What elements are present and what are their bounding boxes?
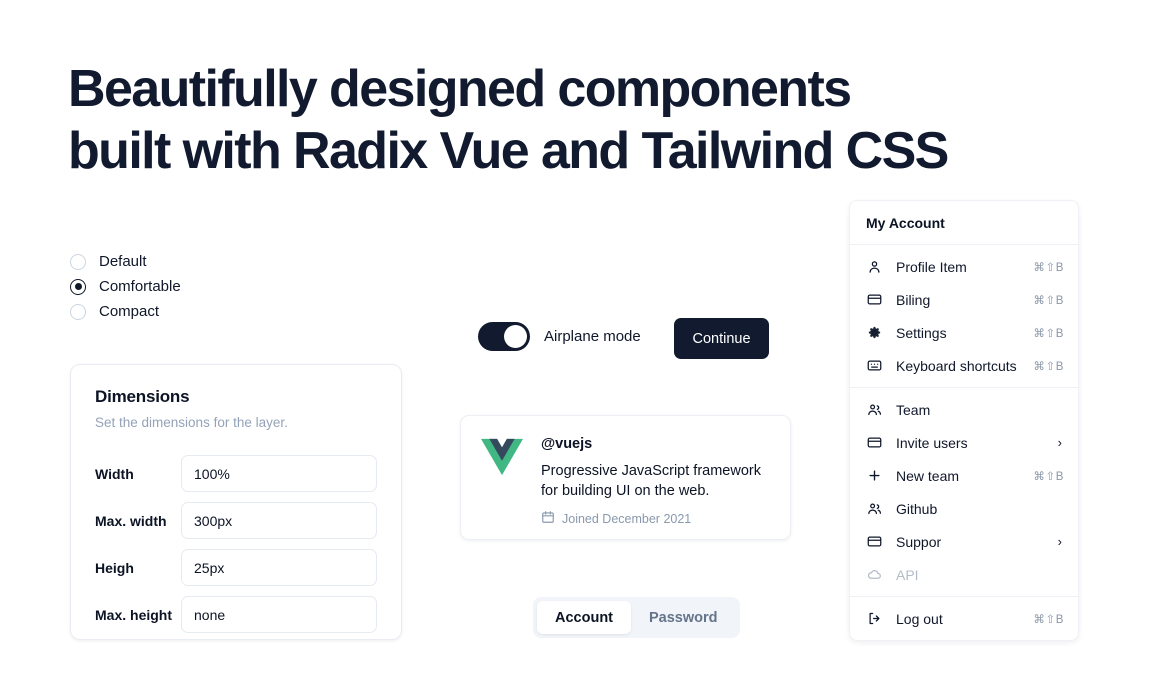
radio-label-default: Default	[99, 253, 147, 270]
continue-button[interactable]: Continue	[674, 318, 769, 359]
menu-item-team-label: Team	[896, 402, 1064, 418]
chevron-right-icon: ›	[1058, 436, 1062, 449]
radio-label-comfortable: Comfortable	[99, 278, 181, 295]
vue-joined-text: Joined December 2021	[562, 512, 691, 526]
radio-label-compact: Compact	[99, 303, 159, 320]
dimensions-subtitle: Set the dimensions for the layer.	[95, 415, 377, 430]
page-title: Beautifully designed components built wi…	[68, 58, 1028, 182]
menu-item-keyboard-shortcuts[interactable]: Keyboard shortcuts ⌘⇧B	[850, 349, 1078, 382]
menu-item-settings-label: Settings	[896, 325, 1033, 341]
menu-item-api: API	[850, 558, 1078, 591]
tab-password[interactable]: Password	[631, 601, 736, 634]
dimensions-row-max-height: Max. height	[95, 591, 377, 638]
keyboard-icon	[866, 357, 883, 374]
menu-item-logout-shortcut: ⌘⇧B	[1033, 612, 1064, 626]
switch-knob	[504, 325, 527, 348]
dimensions-field-list: Width Max. width Heigh Max. height	[95, 450, 377, 638]
tab-account[interactable]: Account	[537, 601, 631, 634]
menu-item-new-team-label: New team	[896, 468, 1033, 484]
menu-item-team[interactable]: Team	[850, 393, 1078, 426]
plus-icon	[866, 467, 883, 484]
input-max-width[interactable]	[181, 502, 377, 539]
menu-item-github[interactable]: Github	[850, 492, 1078, 525]
label-width: Width	[95, 466, 181, 482]
gear-icon	[866, 324, 883, 341]
dimensions-row-width: Width	[95, 450, 377, 497]
density-radio-group: Default Comfortable Compact	[70, 249, 181, 324]
vue-hover-card-body: @vuejs Progressive JavaScript framework …	[541, 436, 781, 539]
menu-group-team: Team Invite users › New team ⌘⇧B	[850, 388, 1078, 596]
airplane-mode-row: Airplane mode	[478, 322, 641, 351]
menu-item-profile[interactable]: Profile Item ⌘⇧B	[850, 250, 1078, 283]
logout-icon	[866, 610, 883, 627]
menu-item-github-label: Github	[896, 501, 1064, 517]
credit-card-icon	[866, 434, 883, 451]
vue-description: Progressive JavaScript framework for bui…	[541, 461, 781, 501]
label-max-height: Max. height	[95, 607, 181, 623]
vue-handle: @vuejs	[541, 436, 781, 452]
menu-item-billing[interactable]: Biling ⌘⇧B	[850, 283, 1078, 316]
radio-option-comfortable[interactable]: Comfortable	[70, 274, 181, 299]
dimensions-row-max-width: Max. width	[95, 497, 377, 544]
menu-item-invite-users-label: Invite users	[896, 435, 1058, 451]
dimensions-title: Dimensions	[95, 387, 377, 407]
calendar-icon	[541, 510, 562, 527]
menu-item-billing-label: Biling	[896, 292, 1033, 308]
airplane-mode-label: Airplane mode	[544, 328, 641, 345]
menu-item-keyboard-shortcuts-shortcut: ⌘⇧B	[1033, 359, 1064, 373]
input-height[interactable]	[181, 549, 377, 586]
dimensions-row-height: Heigh	[95, 544, 377, 591]
menu-item-settings[interactable]: Settings ⌘⇧B	[850, 316, 1078, 349]
menu-group-account: Profile Item ⌘⇧B Biling ⌘⇧B Settings ⌘⇧B	[850, 245, 1078, 387]
page-title-line-2: built with Radix Vue and Tailwind CSS	[68, 120, 1028, 182]
airplane-mode-switch[interactable]	[478, 322, 530, 351]
menu-item-profile-shortcut: ⌘⇧B	[1033, 260, 1064, 274]
menu-item-keyboard-shortcuts-label: Keyboard shortcuts	[896, 358, 1033, 374]
label-max-width: Max. width	[95, 513, 181, 529]
cloud-icon	[866, 566, 883, 583]
menu-item-profile-label: Profile Item	[896, 259, 1033, 275]
menu-item-api-label: API	[896, 567, 1064, 583]
vue-joined-row: Joined December 2021	[541, 510, 781, 527]
radio-icon-comfortable[interactable]	[70, 279, 86, 295]
account-dropdown-menu: My Account Profile Item ⌘⇧B Biling ⌘⇧B	[849, 200, 1079, 641]
credit-card-icon	[866, 291, 883, 308]
dimensions-card: Dimensions Set the dimensions for the la…	[70, 364, 402, 640]
menu-item-new-team[interactable]: New team ⌘⇧B	[850, 459, 1078, 492]
menu-item-new-team-shortcut: ⌘⇧B	[1033, 469, 1064, 483]
menu-label: My Account	[850, 201, 1078, 244]
credit-card-icon	[866, 533, 883, 550]
settings-tabs: Account Password	[533, 597, 740, 638]
menu-item-logout[interactable]: Log out ⌘⇧B	[850, 602, 1078, 635]
radio-icon-compact[interactable]	[70, 304, 86, 320]
chevron-right-icon: ›	[1058, 535, 1062, 548]
radio-icon-default[interactable]	[70, 254, 86, 270]
input-max-height[interactable]	[181, 596, 377, 633]
radio-option-default[interactable]: Default	[70, 249, 181, 274]
users-icon	[866, 401, 883, 418]
radio-option-compact[interactable]: Compact	[70, 299, 181, 324]
page-root: Beautifully designed components built wi…	[0, 0, 1152, 700]
menu-item-settings-shortcut: ⌘⇧B	[1033, 326, 1064, 340]
vue-hover-card: @vuejs Progressive JavaScript framework …	[460, 415, 791, 540]
user-icon	[866, 258, 883, 275]
users-icon	[866, 500, 883, 517]
menu-item-billing-shortcut: ⌘⇧B	[1033, 293, 1064, 307]
menu-item-support-label: Suppor	[896, 534, 1058, 550]
page-title-line-1: Beautifully designed components	[68, 60, 851, 118]
menu-group-logout: Log out ⌘⇧B	[850, 597, 1078, 640]
menu-item-support[interactable]: Suppor ›	[850, 525, 1078, 558]
menu-item-logout-label: Log out	[896, 611, 1033, 627]
menu-item-invite-users[interactable]: Invite users ›	[850, 426, 1078, 459]
label-height: Heigh	[95, 560, 181, 576]
input-width[interactable]	[181, 455, 377, 492]
vue-logo-icon	[481, 438, 523, 476]
